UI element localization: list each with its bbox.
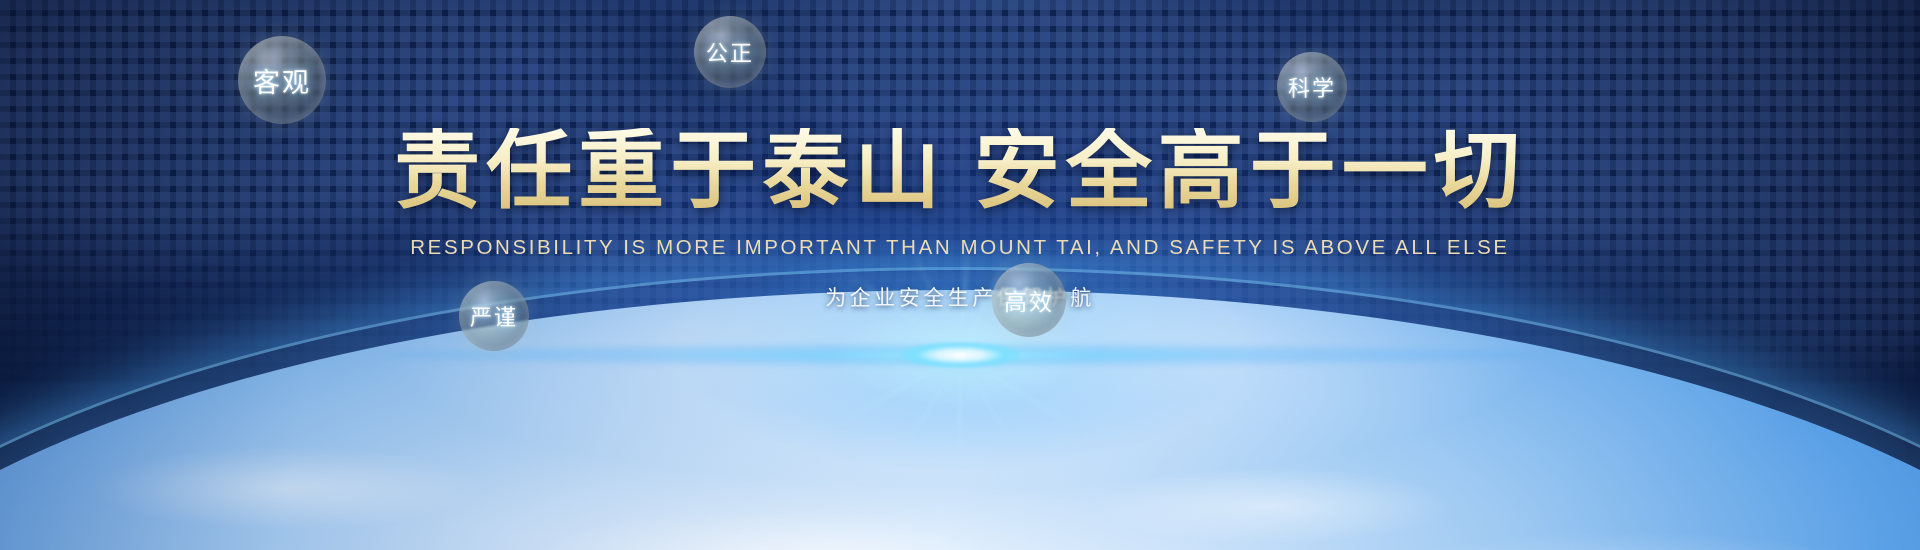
value-badge-label: 客观	[253, 61, 311, 100]
safety-banner: 责任重于泰山 安全高于一切 RESPONSIBILITY IS MORE IMP…	[0, 0, 1920, 550]
horizon-flare-core	[900, 342, 1020, 368]
value-badge-label: 科学	[1288, 71, 1336, 103]
headline-block: 责任重于泰山 安全高于一切 RESPONSIBILITY IS MORE IMP…	[0, 128, 1920, 312]
value-badge-label: 公正	[706, 36, 754, 68]
value-badge-5: 高效	[992, 263, 1066, 337]
value-badge-label: 高效	[1004, 283, 1054, 317]
value-badge-label: 严谨	[470, 300, 518, 332]
value-badge-3: 科学	[1277, 52, 1347, 122]
page-title: 责任重于泰山 安全高于一切	[0, 128, 1920, 214]
value-badge-2: 公正	[694, 16, 766, 88]
tagline-chinese: 为企业安全生产保驾护航	[0, 282, 1920, 312]
subtitle-english: RESPONSIBILITY IS MORE IMPORTANT THAN MO…	[0, 236, 1920, 260]
value-badge-1: 客观	[238, 36, 326, 124]
value-badge-4: 严谨	[459, 281, 529, 351]
